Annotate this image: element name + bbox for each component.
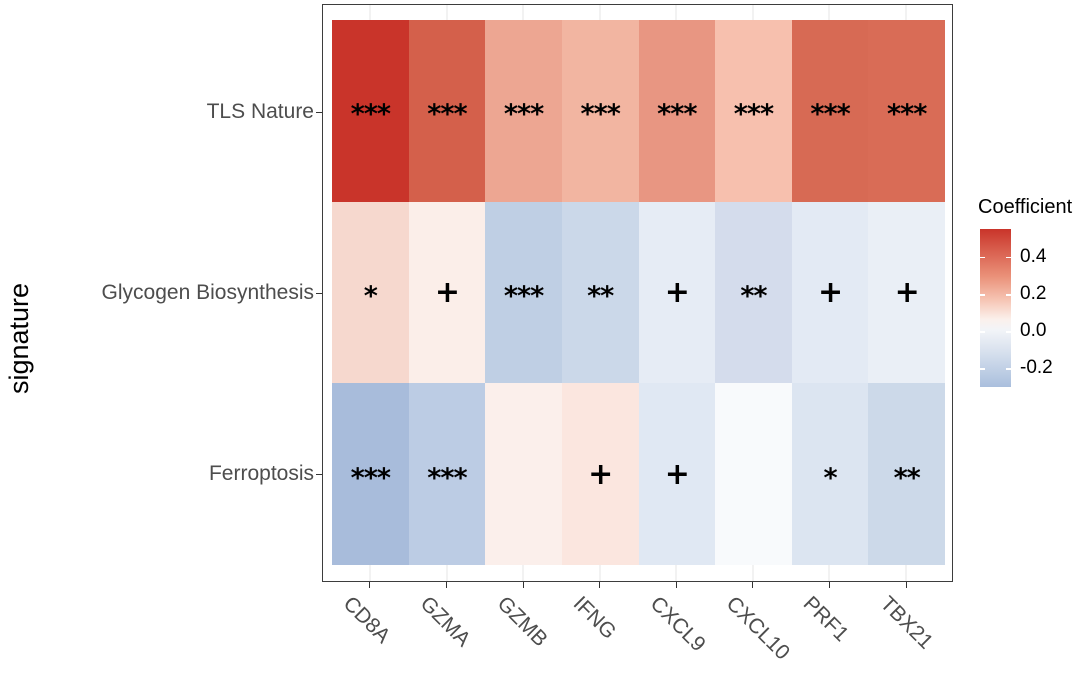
x-tick-mark-0 [369,582,370,588]
y-tick-label-ferroptosis: Ferroptosis [0,462,314,486]
heatmap-cell: + [409,202,486,384]
significance-annotation: *** [351,101,390,128]
legend-tick-mark-right-3 [1006,368,1011,370]
significance-annotation: + [665,460,689,490]
x-tick-label-ifng: IFNG [568,592,620,644]
heatmap-cell: + [639,202,716,384]
heatmap-cell: ** [715,202,792,384]
heatmap-cell: *** [639,20,716,202]
significance-annotation: + [818,278,842,308]
significance-annotation: *** [351,465,390,492]
heatmap-cell: *** [485,202,562,384]
x-tick-label-gzmb: GZMB [492,592,552,652]
legend-tick-mark-left-1 [980,294,985,296]
significance-annotation: *** [734,101,773,128]
significance-annotation: *** [657,101,696,128]
significance-annotation: ** [587,283,613,310]
x-tick-label-cd8a: CD8A [338,592,395,649]
significance-annotation: + [435,278,459,308]
heatmap-tiles: *************************+*****+**++****… [332,20,945,565]
heatmap-cell: *** [868,20,945,202]
heatmap-cell: *** [562,20,639,202]
heatmap-cell: *** [332,20,409,202]
significance-annotation: ** [740,283,766,310]
significance-annotation: *** [427,101,466,128]
x-tick-label-cxcl9: CXCL9 [645,592,710,657]
heatmap-panel: *************************+*****+**++****… [322,4,953,582]
significance-annotation: *** [504,101,543,128]
heatmap-cell [485,383,562,565]
legend-tick-label-2: 0.0 [1020,320,1046,342]
heatmap-cell [715,383,792,565]
x-tick-mark-1 [446,582,447,588]
heatmap-cell: ** [562,202,639,384]
x-tick-mark-4 [676,582,677,588]
x-tick-mark-5 [752,582,753,588]
heatmap-cell: *** [485,20,562,202]
legend-tick-label-3: -0.2 [1020,357,1053,379]
x-tick-label-cxcl10: CXCL10 [721,592,794,665]
legend-tick-mark-right-2 [1006,331,1011,333]
significance-annotation: *** [427,465,466,492]
significance-annotation: *** [581,101,620,128]
heatmap-cell: *** [409,20,486,202]
x-tick-mark-6 [829,582,830,588]
significance-annotation: + [588,460,612,490]
legend-body: 0.40.20.0-0.2 [976,229,1076,394]
legend-tick-mark-left-0 [980,257,985,259]
significance-annotation: *** [810,101,849,128]
legend-tick-mark-left-2 [980,331,985,333]
significance-annotation: * [824,465,837,492]
heatmap-cell: * [792,383,869,565]
legend-tick-label-0: 0.4 [1020,246,1046,268]
significance-annotation: * [364,283,377,310]
y-tick-label-tls-nature: TLS Nature [0,100,314,124]
significance-annotation: ** [894,465,920,492]
significance-annotation: + [665,278,689,308]
heatmap-cell: + [792,202,869,384]
x-tick-label-tbx21: TBX21 [875,592,937,654]
legend: Coefficient 0.40.20.0-0.2 [976,196,1076,394]
significance-annotation: *** [887,101,926,128]
legend-tick-label-1: 0.2 [1020,283,1046,305]
heatmap-cell: *** [409,383,486,565]
legend-tick-mark-right-0 [1006,257,1011,259]
x-tick-mark-2 [523,582,524,588]
heatmap-cell: * [332,202,409,384]
y-tick-label-glycogen-biosynthesis: Glycogen Biosynthesis [0,281,314,305]
heatmap-cell: + [639,383,716,565]
heatmap-cell: *** [715,20,792,202]
legend-title: Coefficient [978,196,1076,219]
significance-annotation: *** [504,283,543,310]
heatmap-cell: *** [332,383,409,565]
legend-tick-mark-left-3 [980,368,985,370]
x-tick-mark-7 [906,582,907,588]
significance-annotation: + [895,278,919,308]
heatmap-cell: + [562,383,639,565]
legend-colorbar [980,229,1011,387]
heatmap-cell: *** [792,20,869,202]
x-tick-label-gzma: GZMA [415,592,475,652]
heatmap-cell: ** [868,383,945,565]
x-tick-mark-3 [599,582,600,588]
x-tick-label-prf1: PRF1 [798,592,853,647]
heatmap-cell: + [868,202,945,384]
legend-tick-mark-right-1 [1006,294,1011,296]
